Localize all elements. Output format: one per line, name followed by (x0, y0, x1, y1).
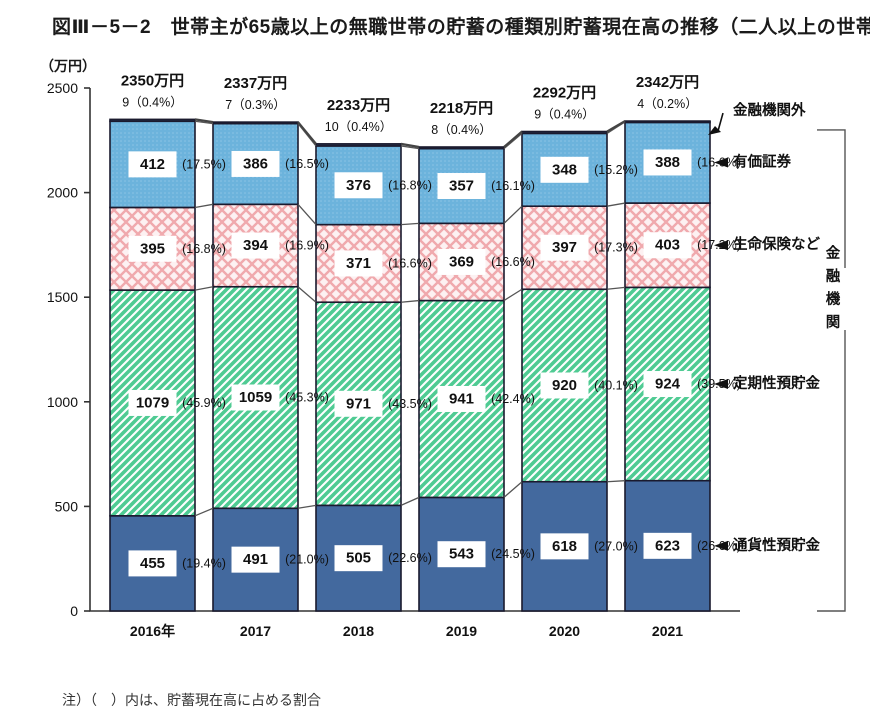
segment-connector (401, 301, 419, 303)
bar-value-label: 395 (140, 240, 165, 257)
bar-outside-label: 8（0.4%） (431, 123, 491, 137)
segment-connector (401, 223, 419, 224)
legend-item-outside: 金融機関外 (708, 101, 806, 135)
financial-institution-bracket: 金融機関 (817, 130, 845, 611)
y-axis-tick-label: 500 (55, 498, 79, 514)
bracket-label-char: 関 (826, 314, 841, 331)
bar-value-label: 543 (449, 546, 474, 563)
segment-connector (607, 121, 625, 131)
bar-percent-label: (16.9%) (285, 239, 329, 253)
bar-group: 4551079395412 (110, 119, 195, 611)
bar-value-label: 623 (655, 537, 680, 554)
bar-percent-label: (16.8%) (182, 242, 226, 256)
bar-segment-outside (316, 144, 401, 146)
bar-outside-label: 9（0.4%） (534, 108, 594, 122)
bar-percent-label: (17.3%) (594, 241, 638, 255)
bracket-label-char: 融 (826, 267, 841, 285)
x-axis-tick-label: 2018 (343, 623, 374, 639)
bar-total-label: 2292万円 (533, 85, 596, 102)
bar-segment-outside (213, 122, 298, 124)
bar-value-label: 618 (552, 538, 577, 555)
bar-percent-label: (22.6%) (388, 551, 432, 565)
bar-value-label: 371 (346, 255, 371, 272)
bar-percent-label: (45.9%) (182, 396, 226, 410)
bar-group: 505971371376 (316, 144, 401, 611)
legend-label: 生命保険など (733, 235, 820, 253)
bar-segment-outside (625, 121, 710, 123)
segment-connector (607, 481, 625, 482)
bar-segment-outside (522, 132, 607, 134)
bar-total-label: 2337万円 (224, 75, 287, 92)
stacked-bar-chart: 0500100015002000250045510793954122350万円9… (0, 0, 870, 722)
x-axis-tick-label: 2017 (240, 623, 271, 639)
bar-percent-label: (19.4%) (182, 556, 226, 570)
bar-value-label: 397 (552, 239, 577, 256)
y-axis-tick-label: 0 (70, 603, 78, 619)
segment-connector (298, 204, 316, 224)
bar-value-label: 491 (243, 551, 268, 568)
legend-label: 定期性預貯金 (733, 374, 820, 392)
bar-percent-label: (43.5%) (388, 397, 432, 411)
segment-connector (504, 289, 522, 300)
bar-percent-label: (40.1%) (594, 378, 638, 392)
bar-value-label: 348 (552, 161, 577, 178)
bar-value-label: 455 (140, 555, 165, 572)
bar-value-label: 920 (552, 377, 577, 394)
segment-connector (607, 203, 625, 206)
x-axis-tick-label: 2016年 (130, 623, 175, 639)
bar-percent-label: (45.3%) (285, 391, 329, 405)
bar-total-label: 2218万円 (430, 100, 493, 117)
bar-outside-label: 7（0.3%） (225, 98, 285, 112)
segment-connector (607, 287, 625, 289)
segment-connector (195, 204, 213, 207)
y-axis-tick-label: 1000 (47, 394, 78, 410)
segment-connector (504, 133, 522, 148)
bar-total-label: 2350万円 (121, 72, 184, 89)
bar-total-label: 2233万円 (327, 97, 390, 114)
bar-segment-outside (110, 119, 195, 121)
bar-value-label: 394 (243, 237, 269, 254)
bar-outside-label: 9（0.4%） (122, 95, 182, 109)
bar-percent-label: (16.6%) (388, 256, 432, 270)
y-axis-tick-label: 1500 (47, 289, 78, 305)
bar-total-label: 2342万円 (636, 74, 699, 91)
bar-outside-label: 4（0.2%） (637, 97, 697, 111)
bar-value-label: 386 (243, 155, 268, 172)
bar-group: 623924403388 (625, 121, 710, 611)
bar-percent-label: (17.5%) (182, 157, 226, 171)
segment-connector (195, 287, 213, 290)
bar-percent-label: (16.1%) (491, 179, 535, 193)
bracket-label-char: 機 (826, 290, 841, 308)
bar-value-label: 971 (346, 395, 371, 412)
segment-connector (504, 132, 522, 147)
bar-percent-label: (16.8%) (388, 178, 432, 192)
legend-label: 有価証券 (733, 152, 791, 170)
bar-percent-label: (15.2%) (594, 163, 638, 177)
bar-percent-label: (16.5%) (285, 157, 329, 171)
y-axis-tick-label: 2000 (47, 185, 78, 201)
bar-group: 543941369357 (419, 147, 504, 611)
bar-value-label: 369 (449, 253, 474, 270)
bar-percent-label: (21.0%) (285, 553, 329, 567)
bar-percent-label: (42.4%) (491, 392, 535, 406)
segment-connector (298, 287, 316, 302)
x-axis-tick-label: 2020 (549, 623, 580, 639)
bar-percent-label: (27.0%) (594, 539, 638, 553)
bracket-lower (817, 330, 845, 611)
chart-footnote: 注）（ ）内は、貯蓄現在高に占める割合 (62, 690, 321, 710)
legend-label: 金融機関外 (733, 101, 806, 119)
bar-value-label: 412 (140, 156, 165, 173)
legend-label: 通貨性預貯金 (733, 536, 820, 554)
segment-connector (504, 482, 522, 498)
bar-segment-outside (419, 147, 504, 149)
segment-connector (504, 206, 522, 223)
x-axis-tick-label: 2021 (652, 623, 683, 639)
bar-value-label: 357 (449, 178, 474, 195)
segment-connector (195, 508, 213, 516)
bar-percent-label: (16.6%) (491, 255, 535, 269)
bar-value-label: 376 (346, 177, 371, 194)
bar-value-label: 941 (449, 390, 474, 407)
bar-group: 4911059394386 (213, 122, 298, 611)
bar-value-label: 1079 (136, 394, 169, 411)
y-axis-tick-label: 2500 (47, 80, 78, 96)
legend-leader-line (718, 113, 723, 131)
bar-value-label: 505 (346, 550, 371, 567)
bar-value-label: 403 (655, 237, 680, 254)
bar-value-label: 1059 (239, 389, 272, 406)
segment-connector (298, 122, 316, 144)
bar-value-label: 924 (655, 376, 681, 393)
bar-value-label: 388 (655, 154, 680, 171)
segment-connector (298, 505, 316, 508)
x-axis-tick-label: 2019 (446, 623, 477, 639)
segment-connector (401, 497, 419, 505)
bracket-label-char: 金 (826, 244, 841, 262)
bar-percent-label: (24.5%) (491, 547, 535, 561)
bar-outside-label: 10（0.4%） (325, 120, 392, 134)
